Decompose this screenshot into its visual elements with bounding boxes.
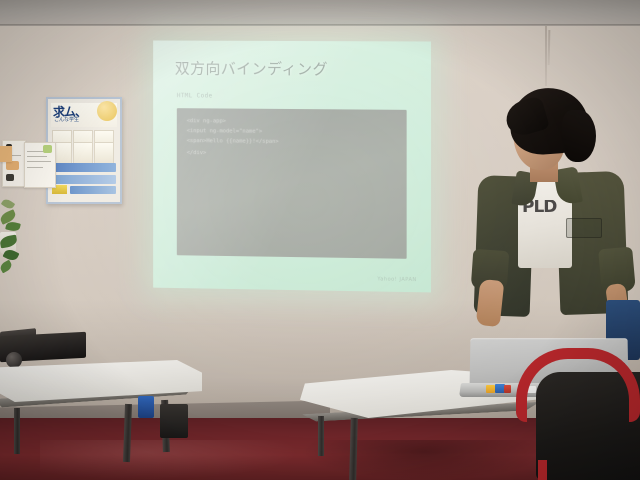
code-line: </div> bbox=[187, 150, 207, 156]
poster-cell bbox=[73, 142, 93, 164]
poster-bar bbox=[70, 186, 116, 194]
arm-left bbox=[476, 279, 505, 327]
slide-footer: Yahoo! JAPAN bbox=[377, 276, 416, 283]
red-chair[interactable] bbox=[516, 348, 640, 480]
poster-subhead: こんな学生 bbox=[54, 116, 79, 123]
poster-cell bbox=[94, 142, 114, 164]
table-leg bbox=[318, 416, 324, 456]
red-sticker-icon bbox=[504, 385, 511, 393]
flyer-line bbox=[27, 167, 43, 168]
table-leg bbox=[123, 404, 132, 462]
wall-flyer bbox=[24, 142, 56, 188]
table-leg bbox=[349, 418, 358, 480]
flyer-line bbox=[27, 161, 51, 162]
dark-box bbox=[160, 404, 188, 438]
flyer-line bbox=[27, 156, 47, 157]
photo-scene: 双方向バインディング HTML Code <div ng-app> <input… bbox=[0, 0, 640, 480]
yellow-sticker-icon bbox=[486, 385, 495, 393]
wall-poster: 求ム、 こんな学生 bbox=[46, 97, 122, 204]
table-leg bbox=[14, 408, 20, 454]
poster-bar bbox=[52, 163, 116, 172]
chair-leg bbox=[538, 460, 547, 480]
projection-screen: 双方向バインディング HTML Code <div ng-app> <input… bbox=[153, 40, 431, 292]
slide-caption: HTML Code bbox=[177, 92, 213, 99]
blue-case bbox=[138, 396, 154, 418]
code-line: <div ng-app> bbox=[187, 118, 226, 124]
code-line: <span>Hello {{name}}!</span> bbox=[187, 138, 279, 145]
wall-seam bbox=[545, 26, 547, 86]
poster-bar bbox=[52, 175, 116, 184]
flyer-dot bbox=[43, 145, 52, 153]
hair-back bbox=[562, 110, 596, 162]
table-top bbox=[0, 360, 202, 402]
slide-code-block: <div ng-app> <input ng-model="name"> <sp… bbox=[177, 108, 407, 259]
shirt-pocket bbox=[566, 218, 602, 238]
ceiling bbox=[0, 0, 640, 26]
slide-title: 双方向バインディング bbox=[175, 57, 328, 79]
chair-frame bbox=[516, 348, 640, 422]
code-line: <input ng-model="name"> bbox=[187, 128, 263, 135]
poster-badge-icon bbox=[97, 101, 117, 121]
flyer-dot bbox=[6, 161, 19, 170]
flyer-dot bbox=[6, 174, 14, 181]
tshirt-graphic: PLD bbox=[522, 200, 566, 244]
wall-flyer bbox=[0, 146, 12, 162]
